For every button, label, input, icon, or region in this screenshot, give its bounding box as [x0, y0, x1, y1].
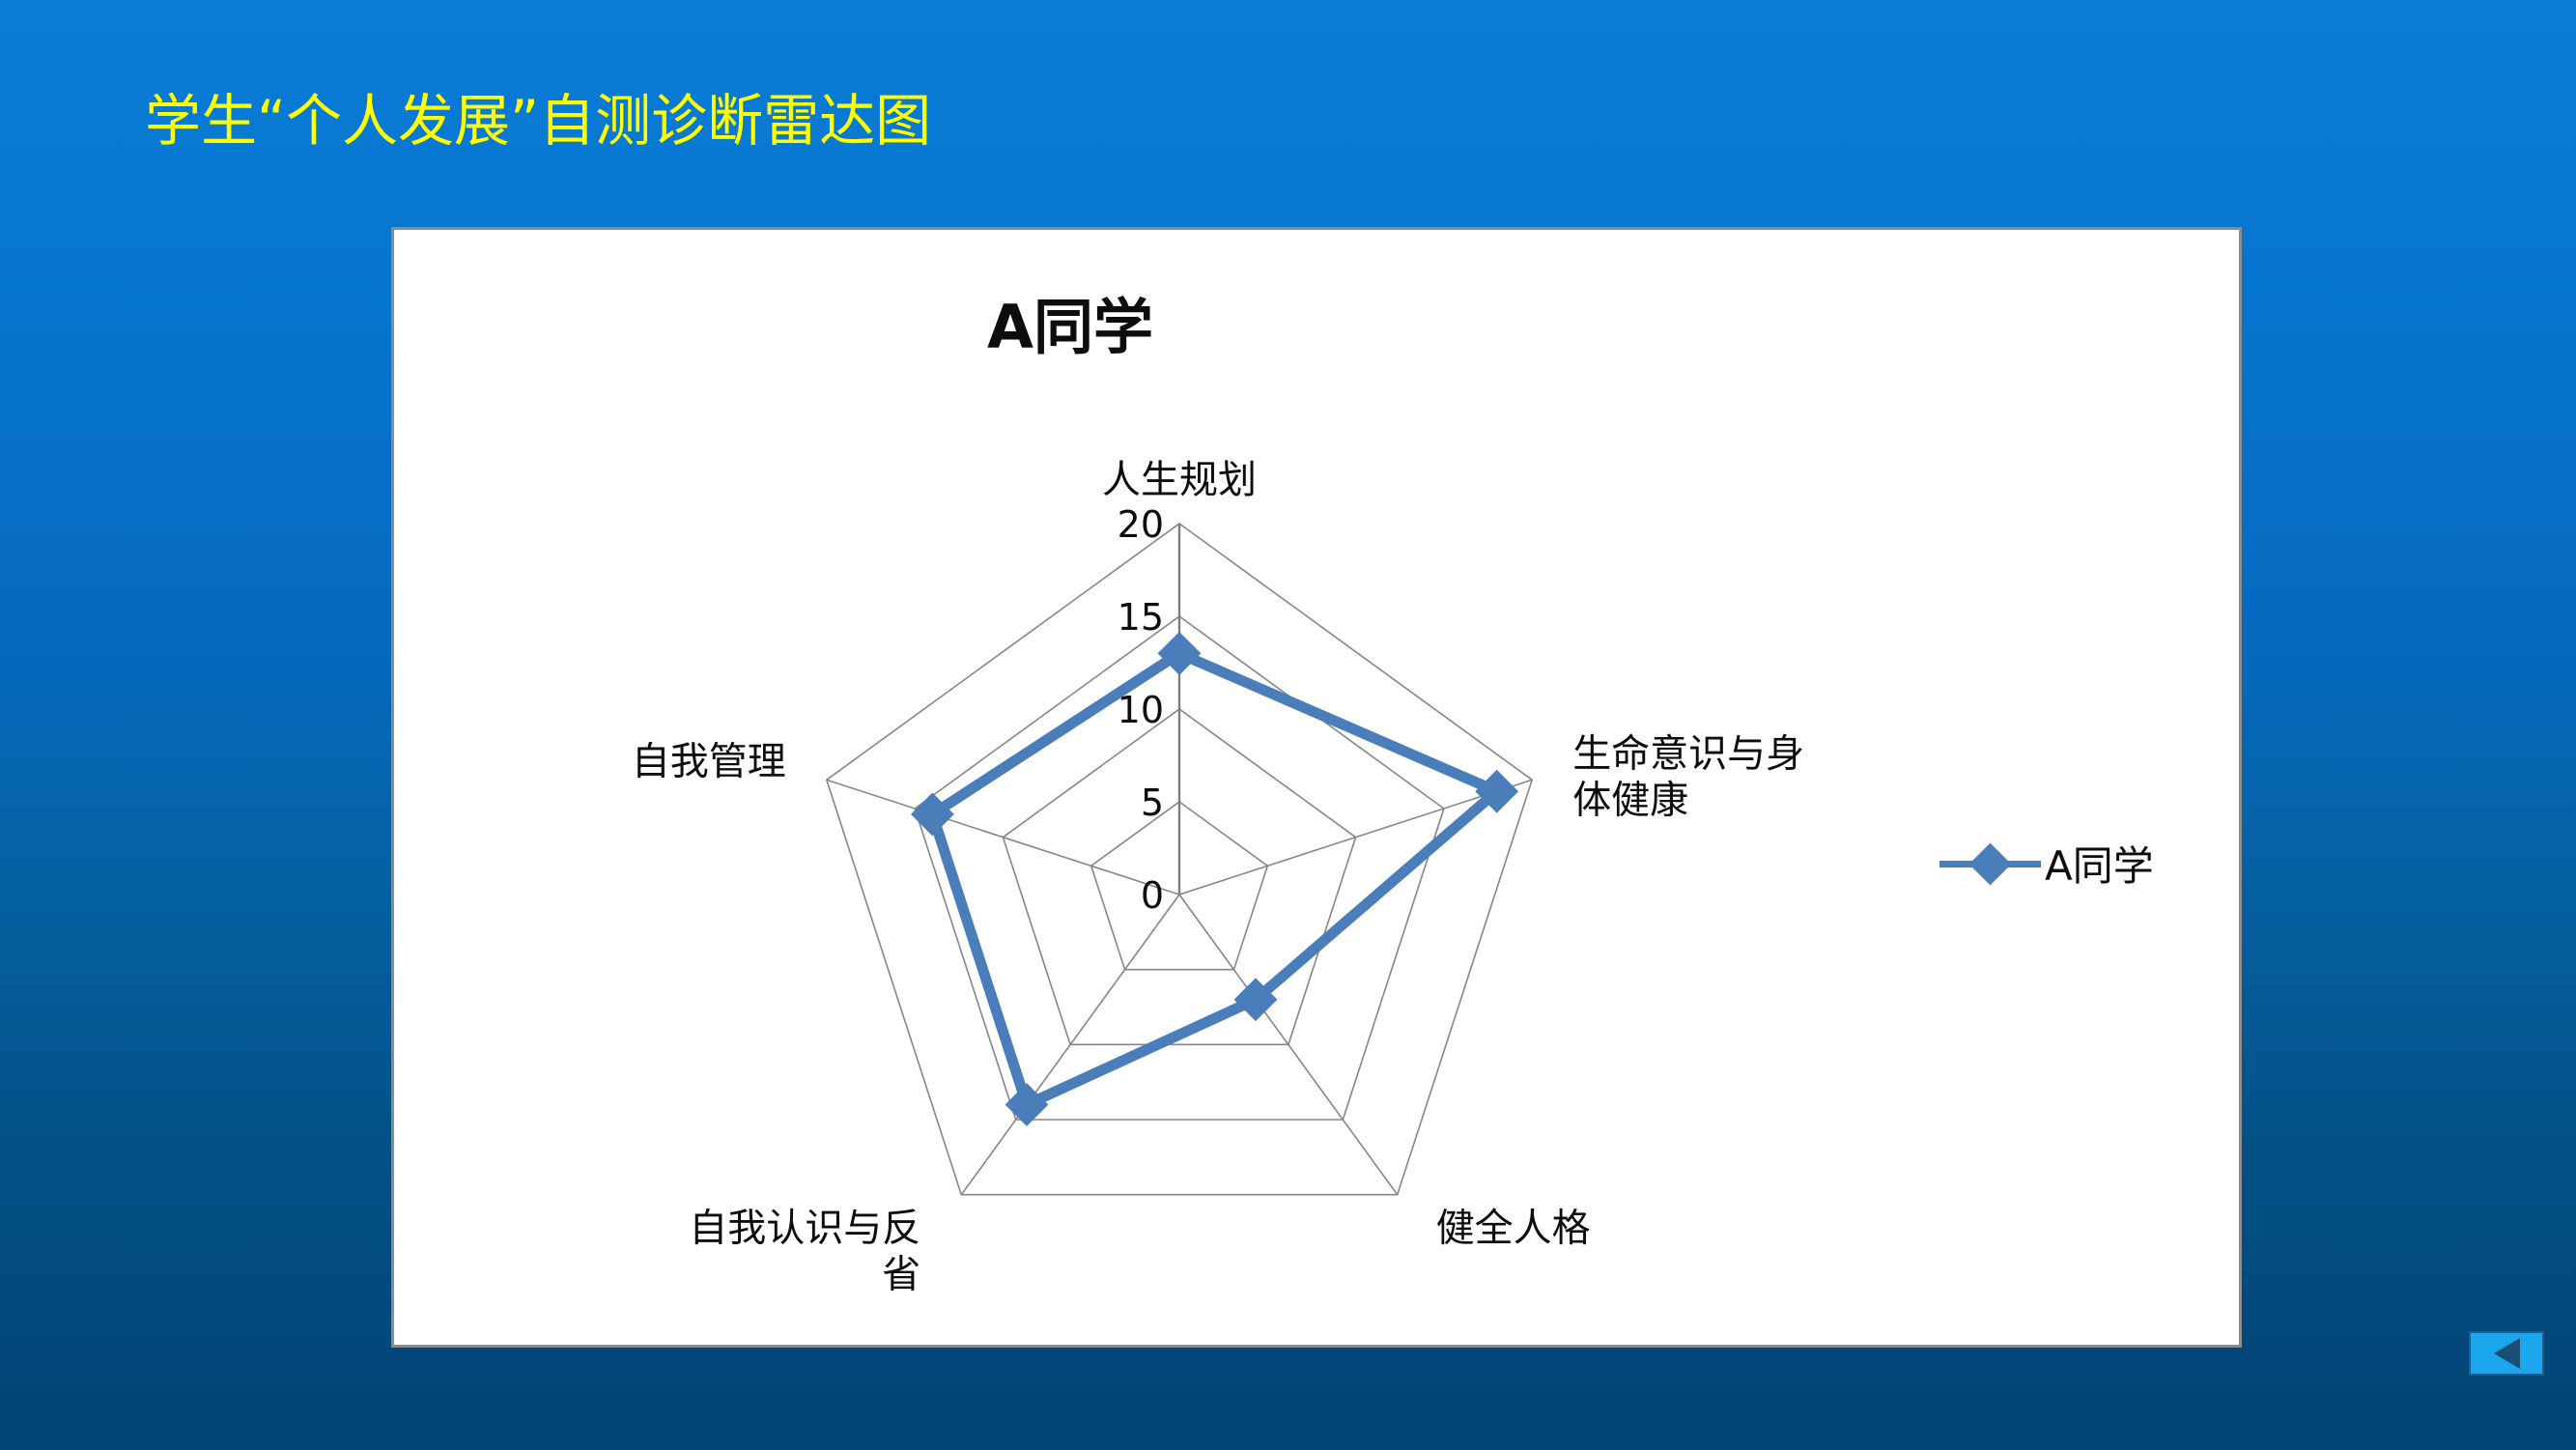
radar-category-label: 自我认识与反省	[689, 1207, 920, 1297]
radar-tick-label: 15	[1118, 596, 1164, 639]
radar-category-label: 健全人格	[1436, 1207, 1591, 1251]
radar-svg: 05101520 人生规划生命意识与身体健康健全人格自我认识与反省自我管理	[394, 230, 2245, 1350]
radar-tick-labels: 05101520	[1118, 503, 1164, 917]
radar-series-a[interactable]	[912, 633, 1516, 1124]
legend-entry-label: A同学	[2045, 834, 2154, 893]
radar-category-label: 生命意识与身体健康	[1572, 731, 1804, 822]
radar-tick-label: 5	[1141, 782, 1164, 824]
radar-category-label: 人生规划	[1102, 458, 1257, 502]
triangle-left-icon	[2494, 1338, 2520, 1369]
radar-tick-label: 0	[1141, 874, 1164, 917]
previous-slide-button[interactable]	[2469, 1331, 2544, 1376]
radar-category-labels: 人生规划生命意识与身体健康健全人格自我认识与反省自我管理	[632, 458, 1804, 1297]
page-title: 学生“个人发展”自测诊断雷达图	[145, 92, 931, 151]
chart-panel: A同学 05101520 人生规划生命意识与身体健康健全人格自我认识与反省自我管…	[391, 227, 2242, 1348]
chart-legend: A同学	[1939, 834, 2154, 893]
radar-axis-spoke	[827, 780, 1179, 895]
radar-chart: 05101520 人生规划生命意识与身体健康健全人格自我认识与反省自我管理	[394, 230, 2245, 1350]
radar-data-point[interactable]	[1006, 1084, 1047, 1124]
legend-marker-icon	[1939, 849, 2041, 878]
radar-axis-spoke	[1179, 780, 1532, 895]
radar-category-label: 自我管理	[632, 739, 786, 783]
slide-canvas: 学生“个人发展”自测诊断雷达图 A同学 05101520 人生规划生命意识与身体…	[0, 0, 2576, 1450]
radar-tick-label: 20	[1118, 503, 1164, 546]
